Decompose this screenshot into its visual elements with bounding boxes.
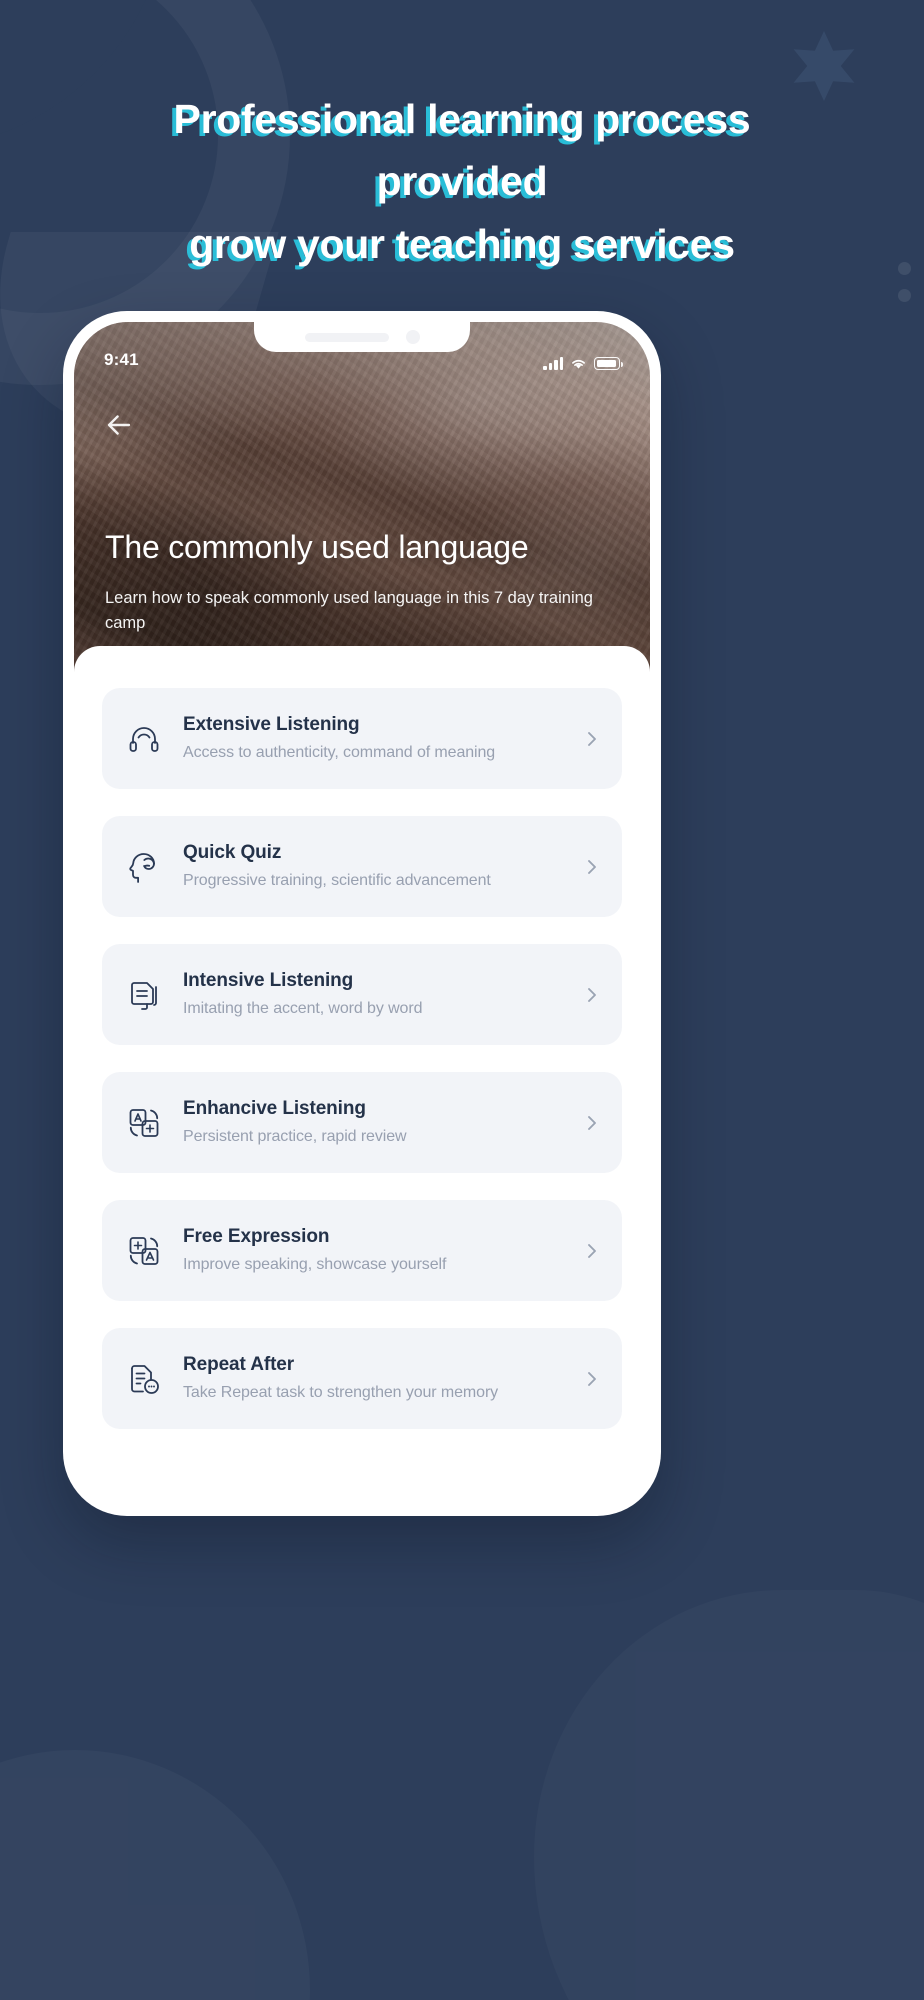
phone-screen: 9:41 The commonly used langu [74,322,650,1505]
list-item-body: Free ExpressionImprove speaking, showcas… [183,1226,565,1276]
list-item-description: Progressive training, scientific advance… [183,870,565,892]
hero-title: The commonly used language [105,527,620,568]
list-item[interactable]: Extensive ListeningAccess to authenticit… [102,688,622,789]
list-item[interactable]: Repeat AfterTake Repeat task to strength… [102,1328,622,1429]
list-item-body: Quick QuizProgressive training, scientif… [183,842,565,892]
chevron-right-icon[interactable] [582,1369,602,1389]
list-item-body: Extensive ListeningAccess to authenticit… [183,714,565,764]
list-item-body: Enhancive ListeningPersistent practice, … [183,1098,565,1148]
chevron-right-icon[interactable] [582,857,602,877]
list-item[interactable]: Free ExpressionImprove speaking, showcas… [102,1200,622,1301]
list-item[interactable]: Quick QuizProgressive training, scientif… [102,816,622,917]
list-item-description: Improve speaking, showcase yourself [183,1254,565,1276]
hero-subtitle: Learn how to speak commonly used languag… [105,586,620,636]
front-camera [406,330,420,344]
headline-line-3: grow your teaching services [0,213,924,275]
chevron-right-icon[interactable] [582,729,602,749]
list-item-title: Free Expression [183,1226,565,1248]
status-icons [543,357,620,370]
list-item-title: Enhancive Listening [183,1098,565,1120]
document-lines-icon [122,973,166,1017]
battery-full-icon [594,357,620,370]
list-item-title: Extensive Listening [183,714,565,736]
decorative-dot [898,289,911,302]
back-arrow-icon[interactable] [102,408,136,442]
blob-bottom-right-shape [534,1590,924,2000]
list-item-description: Persistent practice, rapid review [183,1126,565,1148]
wifi-icon [570,357,587,370]
list-item-body: Repeat AfterTake Repeat task to strength… [183,1354,565,1404]
headphones-icon [122,717,166,761]
list-item[interactable]: Enhancive ListeningPersistent practice, … [102,1072,622,1173]
hero-text-block: The commonly used language Learn how to … [105,527,620,636]
translate-a-to-zh-icon [122,1101,166,1145]
list-item-description: Take Repeat task to strengthen your memo… [183,1382,565,1404]
course-list-sheet: Extensive ListeningAccess to authenticit… [74,646,650,1505]
earpiece-speaker [305,333,389,342]
headline-line-1: Professional learning process [0,88,924,150]
translate-zh-to-a-icon [122,1229,166,1273]
list-item-description: Imitating the accent, word by word [183,998,565,1020]
headline-line-2: provided [0,150,924,212]
phone-notch [254,322,470,352]
cellular-signal-icon [543,357,563,370]
hero-banner: 9:41 The commonly used langu [74,322,650,672]
head-brain-icon [122,845,166,889]
status-time: 9:41 [104,350,139,370]
list-item[interactable]: Intensive ListeningImitating the accent,… [102,944,622,1045]
list-item-title: Repeat After [183,1354,565,1376]
list-item-description: Access to authenticity, command of meani… [183,742,565,764]
list-item-title: Quick Quiz [183,842,565,864]
list-item-body: Intensive ListeningImitating the accent,… [183,970,565,1020]
document-chat-icon [122,1357,166,1401]
list-item-title: Intensive Listening [183,970,565,992]
chevron-right-icon[interactable] [582,1241,602,1261]
page-title: Professional learning process provided g… [0,88,924,275]
chevron-right-icon[interactable] [582,985,602,1005]
phone-mockup: 9:41 The commonly used langu [63,311,661,1516]
chevron-right-icon[interactable] [582,1113,602,1133]
blob-bottom-left-shape [0,1750,310,2000]
